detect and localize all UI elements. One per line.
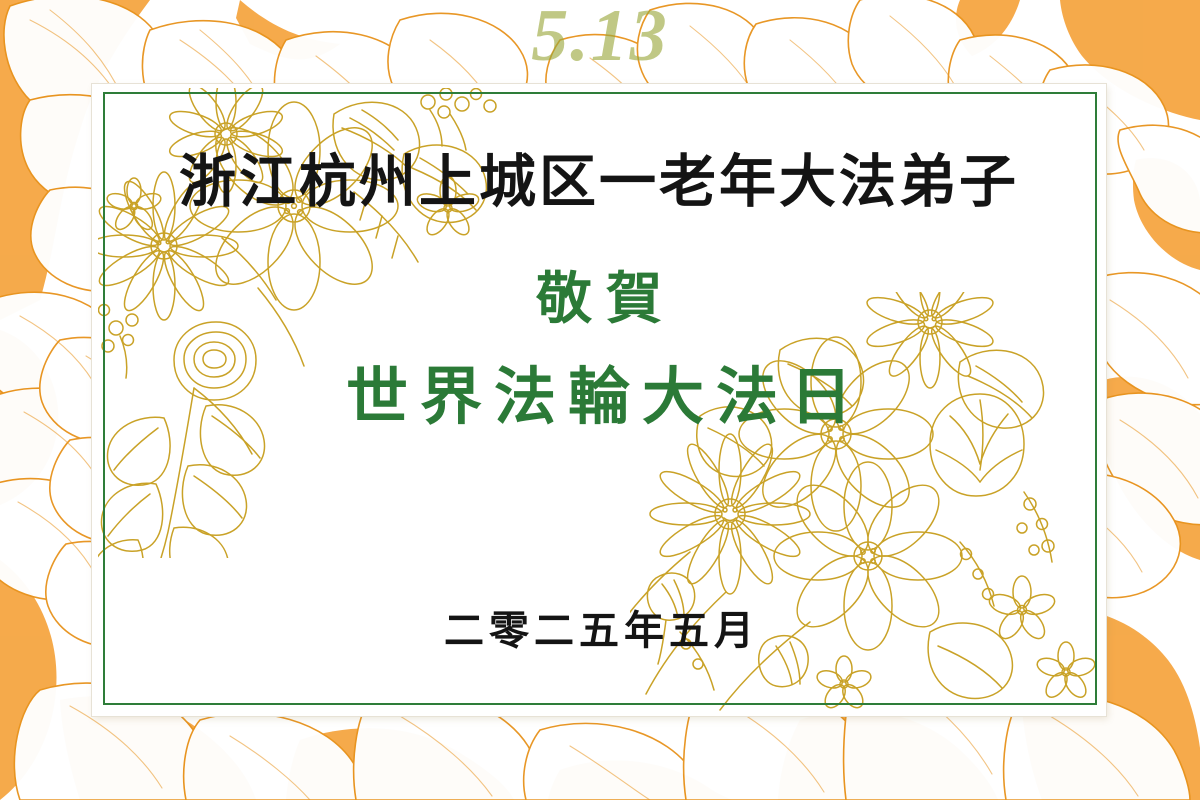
date-stamp-5-13: 5.13	[0, 0, 1200, 79]
organization-line: 浙江杭州上城区一老年大法弟子	[92, 136, 1106, 218]
date-line: 二零二五年五月	[92, 598, 1106, 656]
headline-line: 世界法輪大法日	[92, 346, 1106, 436]
greeting-line: 敬賀	[92, 254, 1106, 335]
card-text-content: 浙江杭州上城区一老年大法弟子 敬賀 世界法輪大法日 二零二五年五月	[92, 84, 1106, 716]
greeting-card-image: 5.13	[0, 0, 1200, 800]
greeting-card-panel: 浙江杭州上城区一老年大法弟子 敬賀 世界法輪大法日 二零二五年五月	[92, 84, 1106, 716]
